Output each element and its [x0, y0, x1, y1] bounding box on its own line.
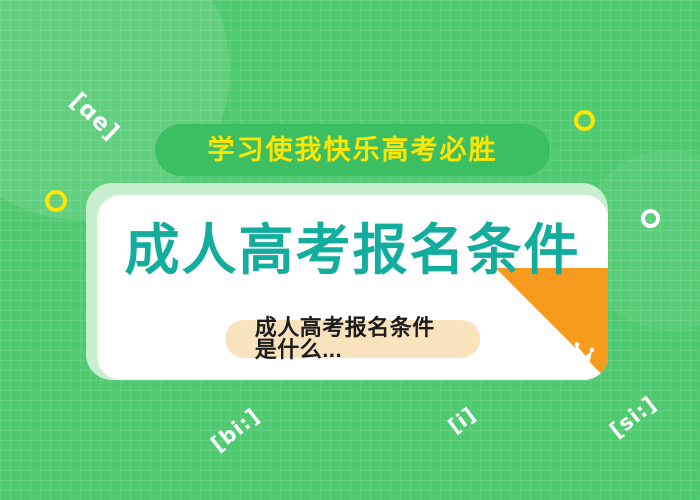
subtitle-text: 成人高考报名条件是什么...	[255, 317, 451, 361]
ring-white-right-icon	[641, 209, 660, 228]
page-title: 成人高考报名条件	[97, 223, 608, 278]
subtitle-pill: 成人高考报名条件是什么...	[225, 320, 481, 358]
poster-canvas: [ɑe] [bi:] [i] [si:] 学习使我快乐高考必胜 成人高考报名条件…	[0, 0, 700, 500]
slogan-banner: 学习使我快乐高考必胜	[155, 124, 550, 176]
phonetic-si-decoration: [si:]	[605, 391, 661, 442]
phonetic-i-decoration: [i]	[444, 402, 481, 438]
ring-yellow-left-icon	[45, 190, 67, 212]
main-card: 成人高考报名条件 成人高考报名条件是什么...	[97, 195, 608, 380]
phonetic-bi-decoration: [bi:]	[206, 404, 264, 457]
main-card-container: 成人高考报名条件 成人高考报名条件是什么...	[86, 183, 608, 380]
crown-icon	[560, 342, 594, 368]
slogan-banner-text: 学习使我快乐高考必胜	[208, 137, 498, 164]
ring-yellow-top-icon	[574, 110, 595, 131]
